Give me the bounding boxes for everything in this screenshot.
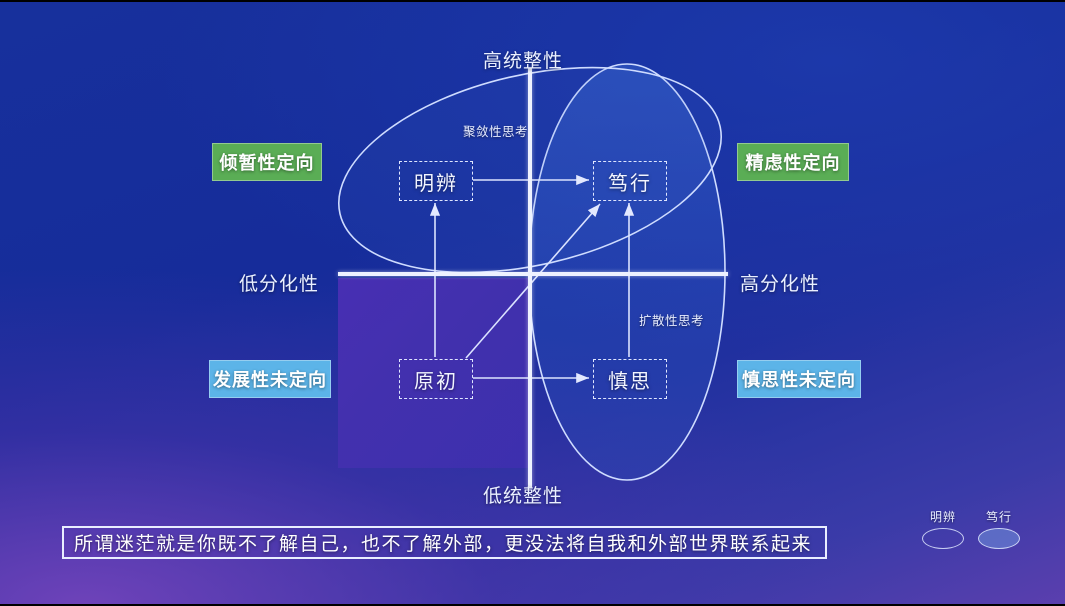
horizontal-axis bbox=[338, 272, 728, 276]
legend-item-duxing[interactable]: 笃行 bbox=[978, 508, 1020, 549]
node-duxing[interactable]: 笃行 bbox=[593, 161, 667, 201]
legend-label-mingbian: 明辨 bbox=[922, 508, 964, 525]
slide-canvas: 高统整性 低统整性 低分化性 高分化性 明辨 笃行 原初 慎思 聚敛性思考 扩散… bbox=[0, 0, 1065, 606]
axis-label-top: 高统整性 bbox=[483, 46, 563, 73]
legend: 明辨 笃行 bbox=[922, 508, 1042, 558]
axis-label-bottom: 低统整性 bbox=[483, 481, 563, 508]
caption-text: 所谓迷茫就是你既不了解自己，也不了解外部，更没法将自我和外部世界联系起来 bbox=[74, 529, 812, 556]
vertical-axis bbox=[528, 68, 532, 488]
axis-label-left: 低分化性 bbox=[239, 269, 319, 296]
tag-top-left[interactable]: 倾暂性定向 bbox=[212, 143, 322, 181]
node-mingbian[interactable]: 明辨 bbox=[399, 161, 473, 201]
ellipse-icon bbox=[922, 528, 964, 549]
tag-top-right[interactable]: 精虑性定向 bbox=[737, 143, 849, 181]
annotation-divergent-thinking: 扩散性思考 bbox=[639, 310, 704, 329]
diagram-shapes bbox=[0, 0, 1065, 606]
node-yuanchu[interactable]: 原初 bbox=[399, 359, 473, 399]
caption-bar: 所谓迷茫就是你既不了解自己，也不了解外部，更没法将自我和外部世界联系起来 bbox=[62, 526, 827, 559]
annotation-convergent-thinking: 聚敛性思考 bbox=[463, 121, 528, 140]
axis-label-right: 高分化性 bbox=[740, 269, 820, 296]
ellipse-filled-icon bbox=[978, 528, 1020, 549]
tag-bottom-left[interactable]: 发展性未定向 bbox=[209, 360, 331, 398]
legend-item-mingbian[interactable]: 明辨 bbox=[922, 508, 964, 549]
legend-label-duxing: 笃行 bbox=[978, 508, 1020, 525]
node-shensi[interactable]: 慎思 bbox=[593, 359, 667, 399]
tag-bottom-right[interactable]: 慎思性未定向 bbox=[737, 360, 861, 398]
